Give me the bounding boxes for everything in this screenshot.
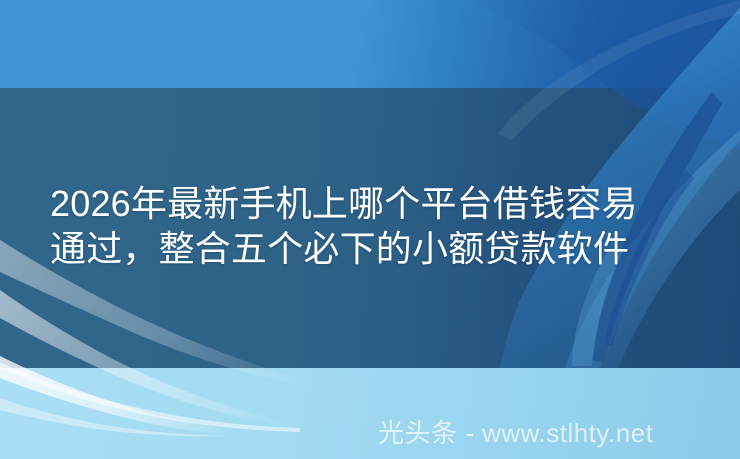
headline-title: 2026年最新手机上哪个平台借钱容易 通过，整合五个必下的小额贷款软件 [50, 181, 710, 271]
site-watermark: 光头条 - www.stlhty.net [378, 418, 653, 448]
cover-image: 2026年最新手机上哪个平台借钱容易 通过，整合五个必下的小额贷款软件 光头条 … [0, 0, 740, 459]
